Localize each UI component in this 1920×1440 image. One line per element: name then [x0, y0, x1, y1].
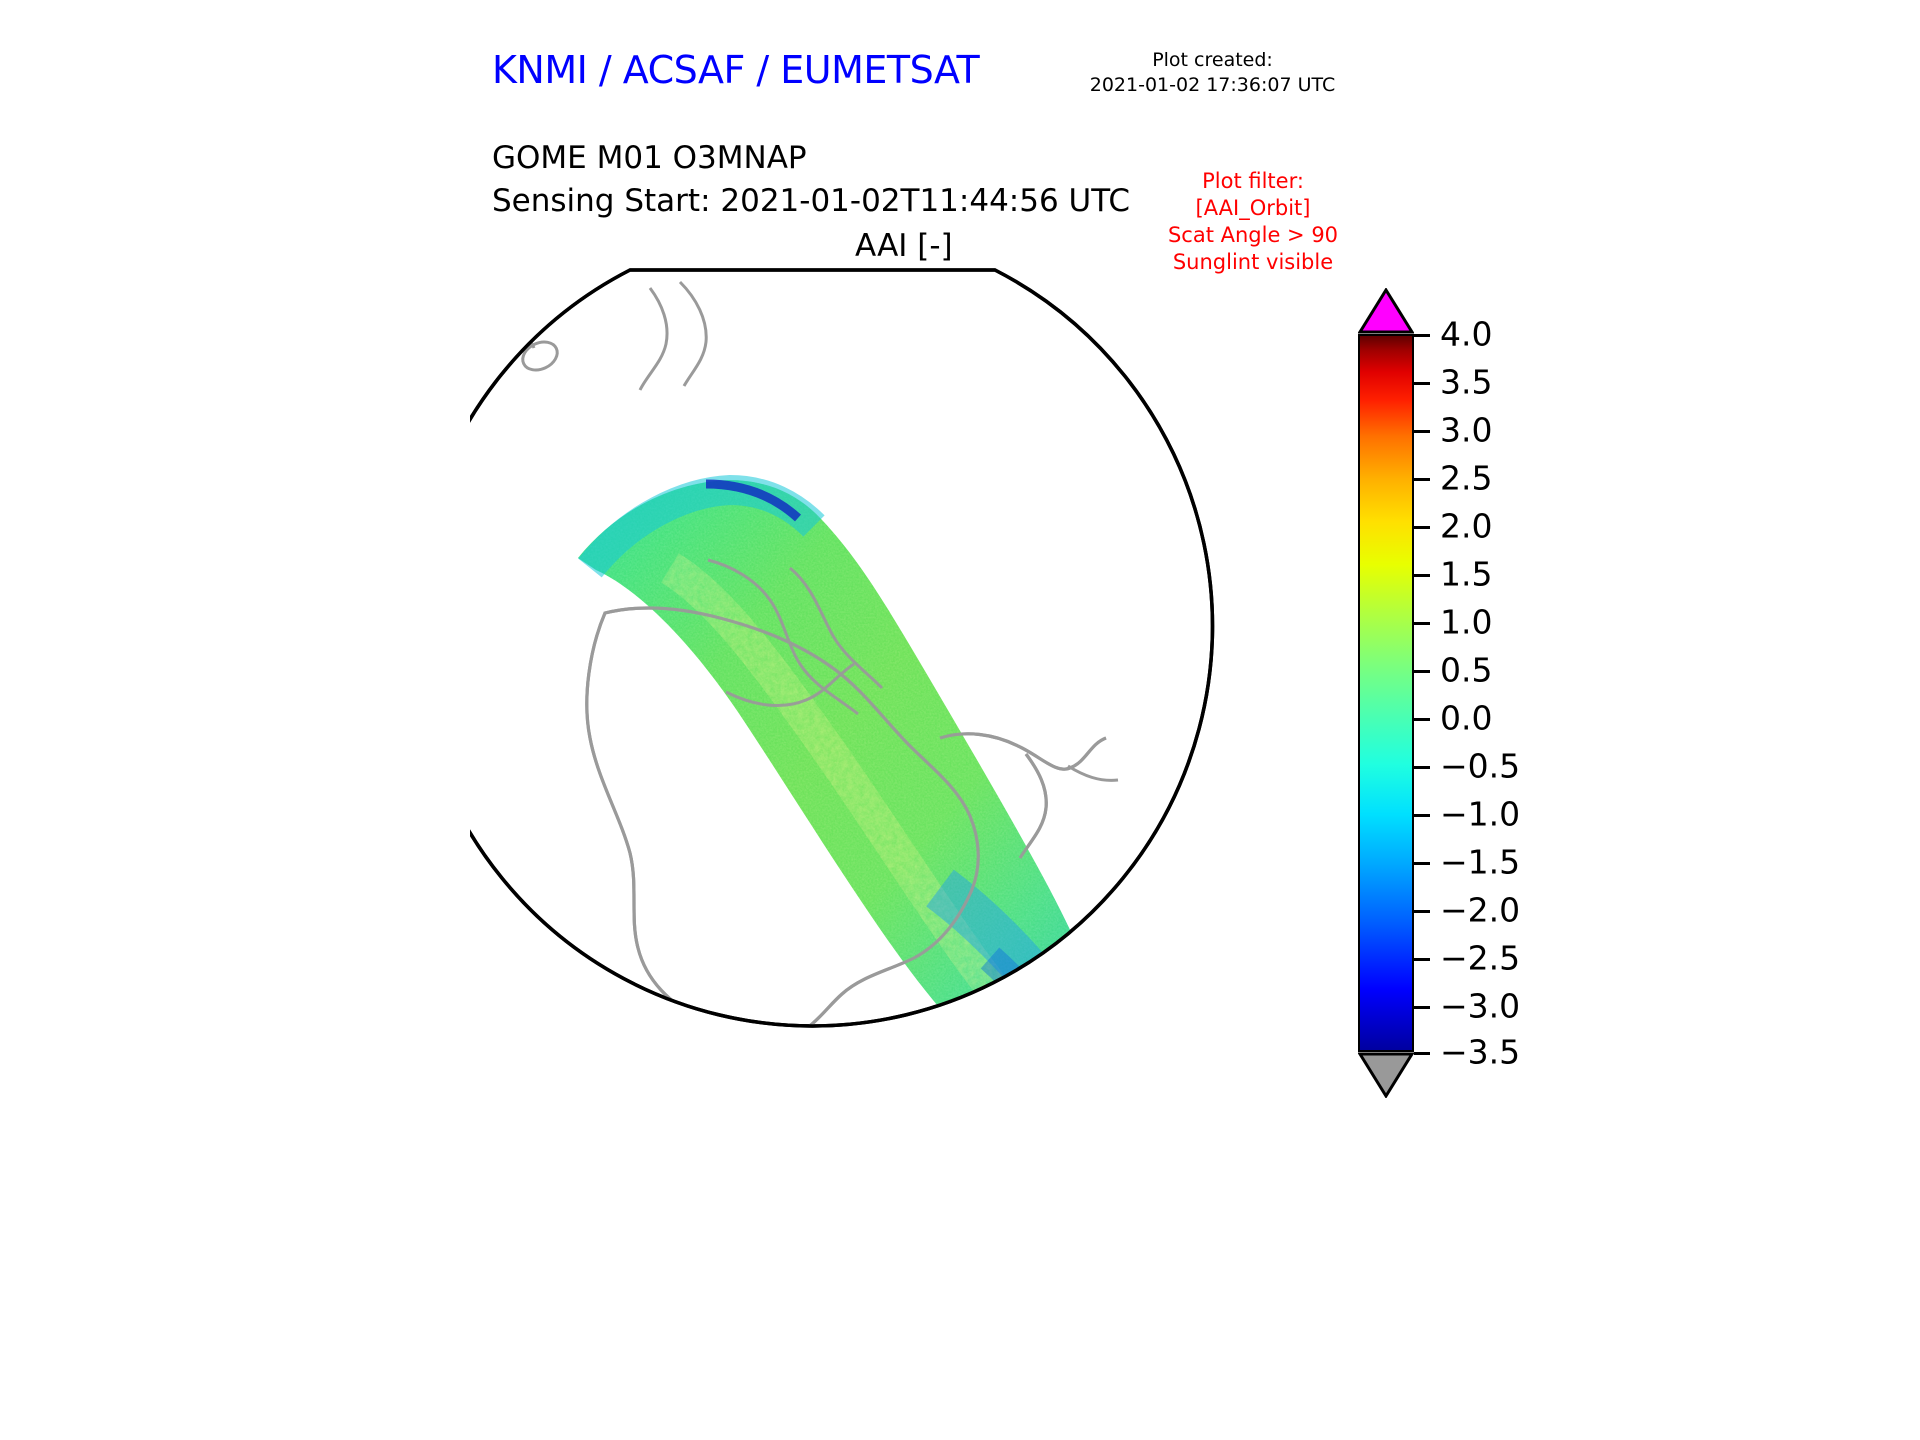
colorbar-tick-label: −1.5: [1440, 843, 1520, 882]
plot-title-block: GOME M01 O3MNAP Sensing Start: 2021-01-0…: [492, 137, 1130, 223]
plot-created-block: Plot created: 2021-01-02 17:36:07 UTC: [1075, 48, 1350, 98]
sensing-start-title: Sensing Start: 2021-01-02T11:44:56 UTC: [492, 180, 1130, 223]
colorbar-tick: [1414, 574, 1430, 577]
colorbar-over-arrow: [1358, 288, 1414, 334]
colorbar-tick-label: −1.0: [1440, 795, 1520, 834]
colorbar-tick-label: 0.5: [1440, 651, 1492, 690]
plot-filter-line: Scat Angle > 90: [1148, 222, 1358, 249]
colorbar-tick-label: 0.0: [1440, 699, 1492, 738]
colorbar-tick-label: 4.0: [1440, 315, 1492, 354]
colorbar-tick: [1414, 766, 1430, 769]
plot-created-label: Plot created:: [1075, 48, 1350, 73]
quantity-label: AAI [-]: [855, 228, 953, 264]
plot-filter-block: Plot filter: [AAI_Orbit] Scat Angle > 90…: [1148, 168, 1358, 276]
map-panel: [470, 268, 1360, 1298]
colorbar-tick: [1414, 1006, 1430, 1009]
colorbar-tick-label: −3.5: [1440, 1033, 1520, 1072]
colorbar-tick: [1414, 334, 1430, 337]
plot-created-value: 2021-01-02 17:36:07 UTC: [1075, 73, 1350, 98]
colorbar-tick-label: 3.0: [1440, 411, 1492, 450]
colorbar-tick: [1414, 862, 1430, 865]
colorbar-tick-label: 1.5: [1440, 555, 1492, 594]
colorbar-bar: [1358, 288, 1414, 1098]
colorbar-tick: [1414, 718, 1430, 721]
plot-filter-heading: Plot filter:: [1148, 168, 1358, 195]
colorbar-tick: [1414, 910, 1430, 913]
plot-filter-line: [AAI_Orbit]: [1148, 195, 1358, 222]
colorbar-under-arrow: [1358, 1052, 1414, 1098]
colorbar: 4.0 3.5 3.0 2.5 2.0 1.5 1.0 0.5 0.0 −0.5…: [1358, 288, 1608, 1098]
organisation-title: KNMI / ACSAF / EUMETSAT: [492, 48, 979, 92]
colorbar-tick: [1414, 478, 1430, 481]
colorbar-tick-label: −3.0: [1440, 987, 1520, 1026]
instrument-title: GOME M01 O3MNAP: [492, 137, 1130, 180]
colorbar-tick: [1414, 526, 1430, 529]
colorbar-tick: [1414, 670, 1430, 673]
colorbar-tick: [1414, 622, 1430, 625]
colorbar-tick: [1414, 430, 1430, 433]
colorbar-tick-label: −2.0: [1440, 891, 1520, 930]
colorbar-tick-label: −0.5: [1440, 747, 1520, 786]
colorbar-gradient: [1358, 334, 1414, 1052]
colorbar-tick: [1414, 382, 1430, 385]
colorbar-tick: [1414, 814, 1430, 817]
colorbar-tick-label: 3.5: [1440, 363, 1492, 402]
colorbar-tick-label: 2.0: [1440, 507, 1492, 546]
colorbar-tick-label: −2.5: [1440, 939, 1520, 978]
colorbar-tick-label: 1.0: [1440, 603, 1492, 642]
colorbar-tick: [1414, 958, 1430, 961]
colorbar-tick: [1414, 1052, 1430, 1055]
colorbar-tick-label: 2.5: [1440, 459, 1492, 498]
